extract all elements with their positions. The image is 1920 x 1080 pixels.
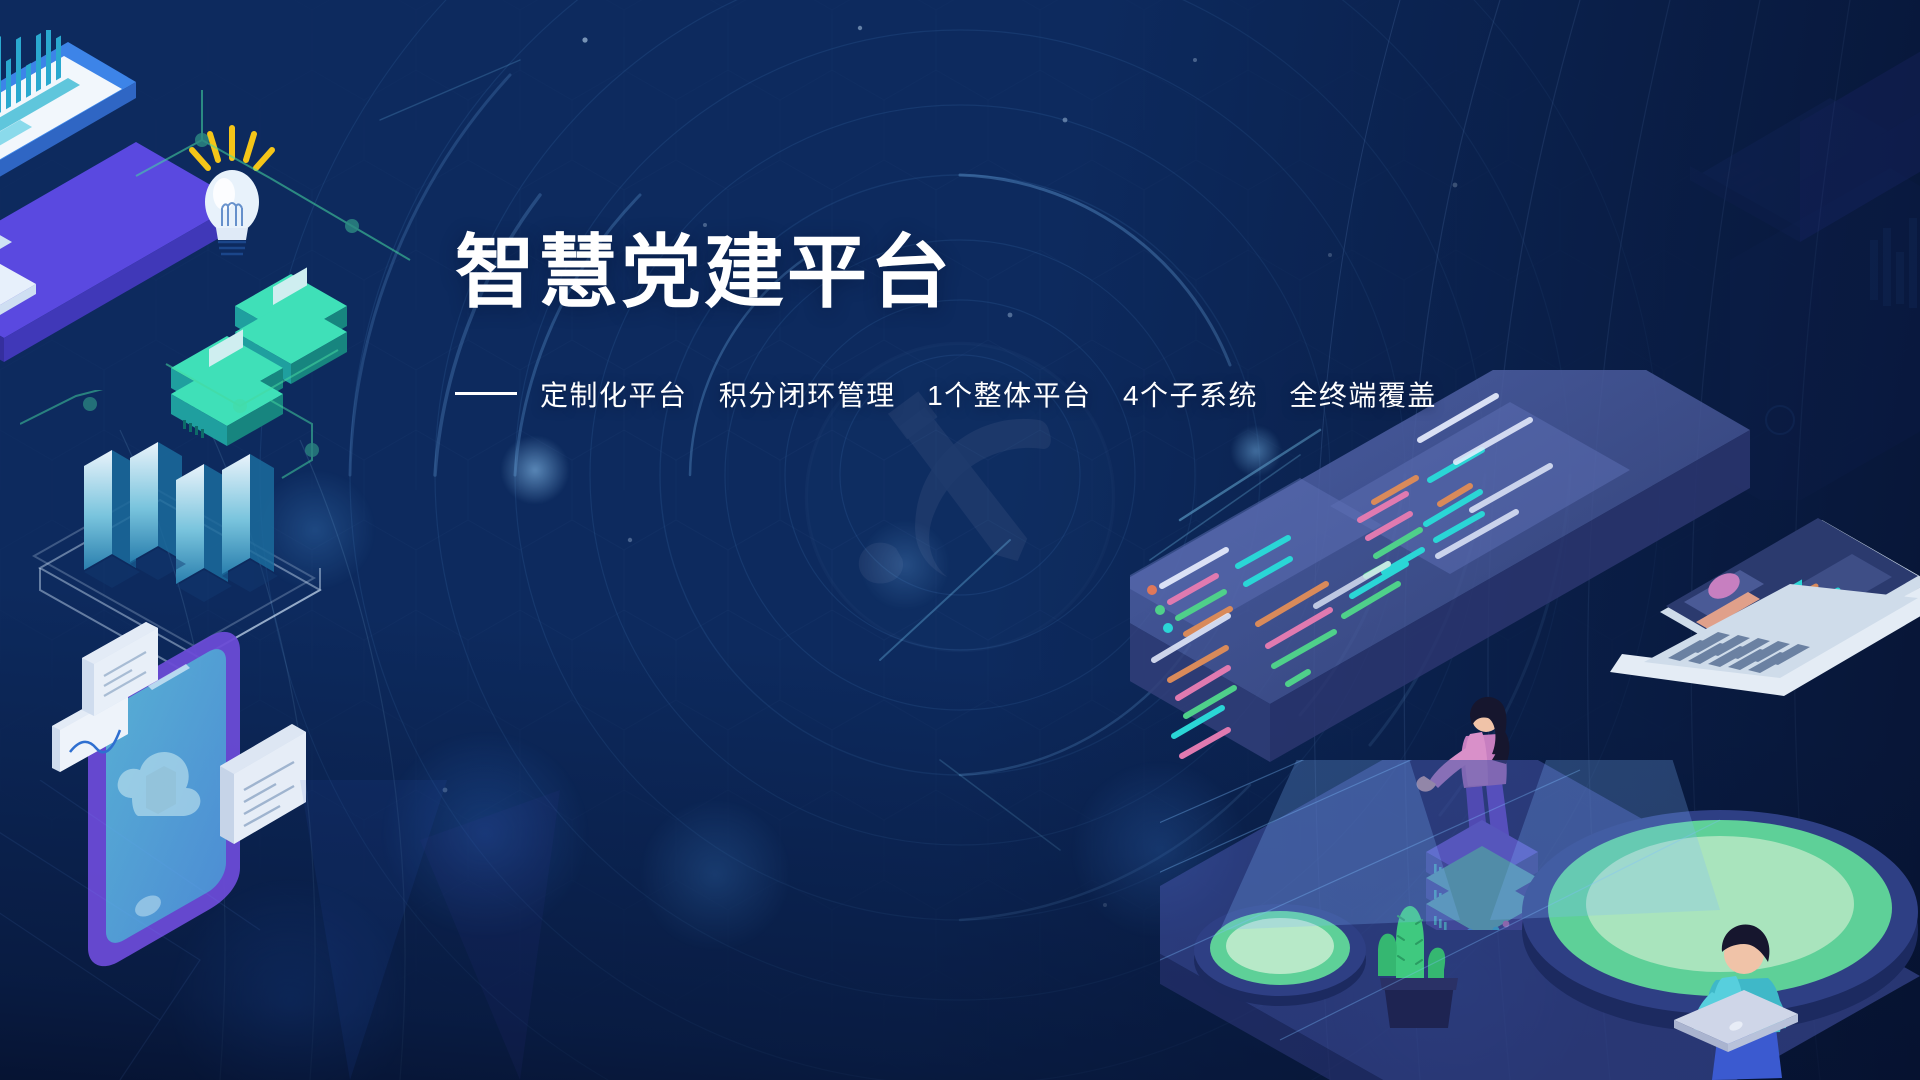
subtitle-segment-5: 全终端覆盖 xyxy=(1289,380,1437,411)
subtitle-dash-icon xyxy=(455,392,517,395)
subtitle-segment-3: 1个整体平台 xyxy=(927,380,1092,411)
bottom-vignette xyxy=(0,0,1920,1080)
subtitle-segment-2: 积分闭环管理 xyxy=(719,380,896,411)
subtitle-text: 定制化平台 积分闭环管理 1个整体平台 4个子系统 全终端覆盖 xyxy=(540,374,1437,414)
subtitle-segment-4: 4个子系统 xyxy=(1123,380,1258,411)
subtitle-row: 定制化平台 积分闭环管理 1个整体平台 4个子系统 全终端覆盖 xyxy=(455,374,1455,414)
page-title: 智慧党建平台 xyxy=(455,232,1455,314)
subtitle-segment-1: 定制化平台 xyxy=(540,380,688,411)
hero-banner: 智慧党建平台 定制化平台 积分闭环管理 1个整体平台 4个子系统 全终端覆盖 xyxy=(0,0,1920,1080)
hero-text-block: 智慧党建平台 定制化平台 积分闭环管理 1个整体平台 4个子系统 全终端覆盖 xyxy=(455,232,1455,414)
